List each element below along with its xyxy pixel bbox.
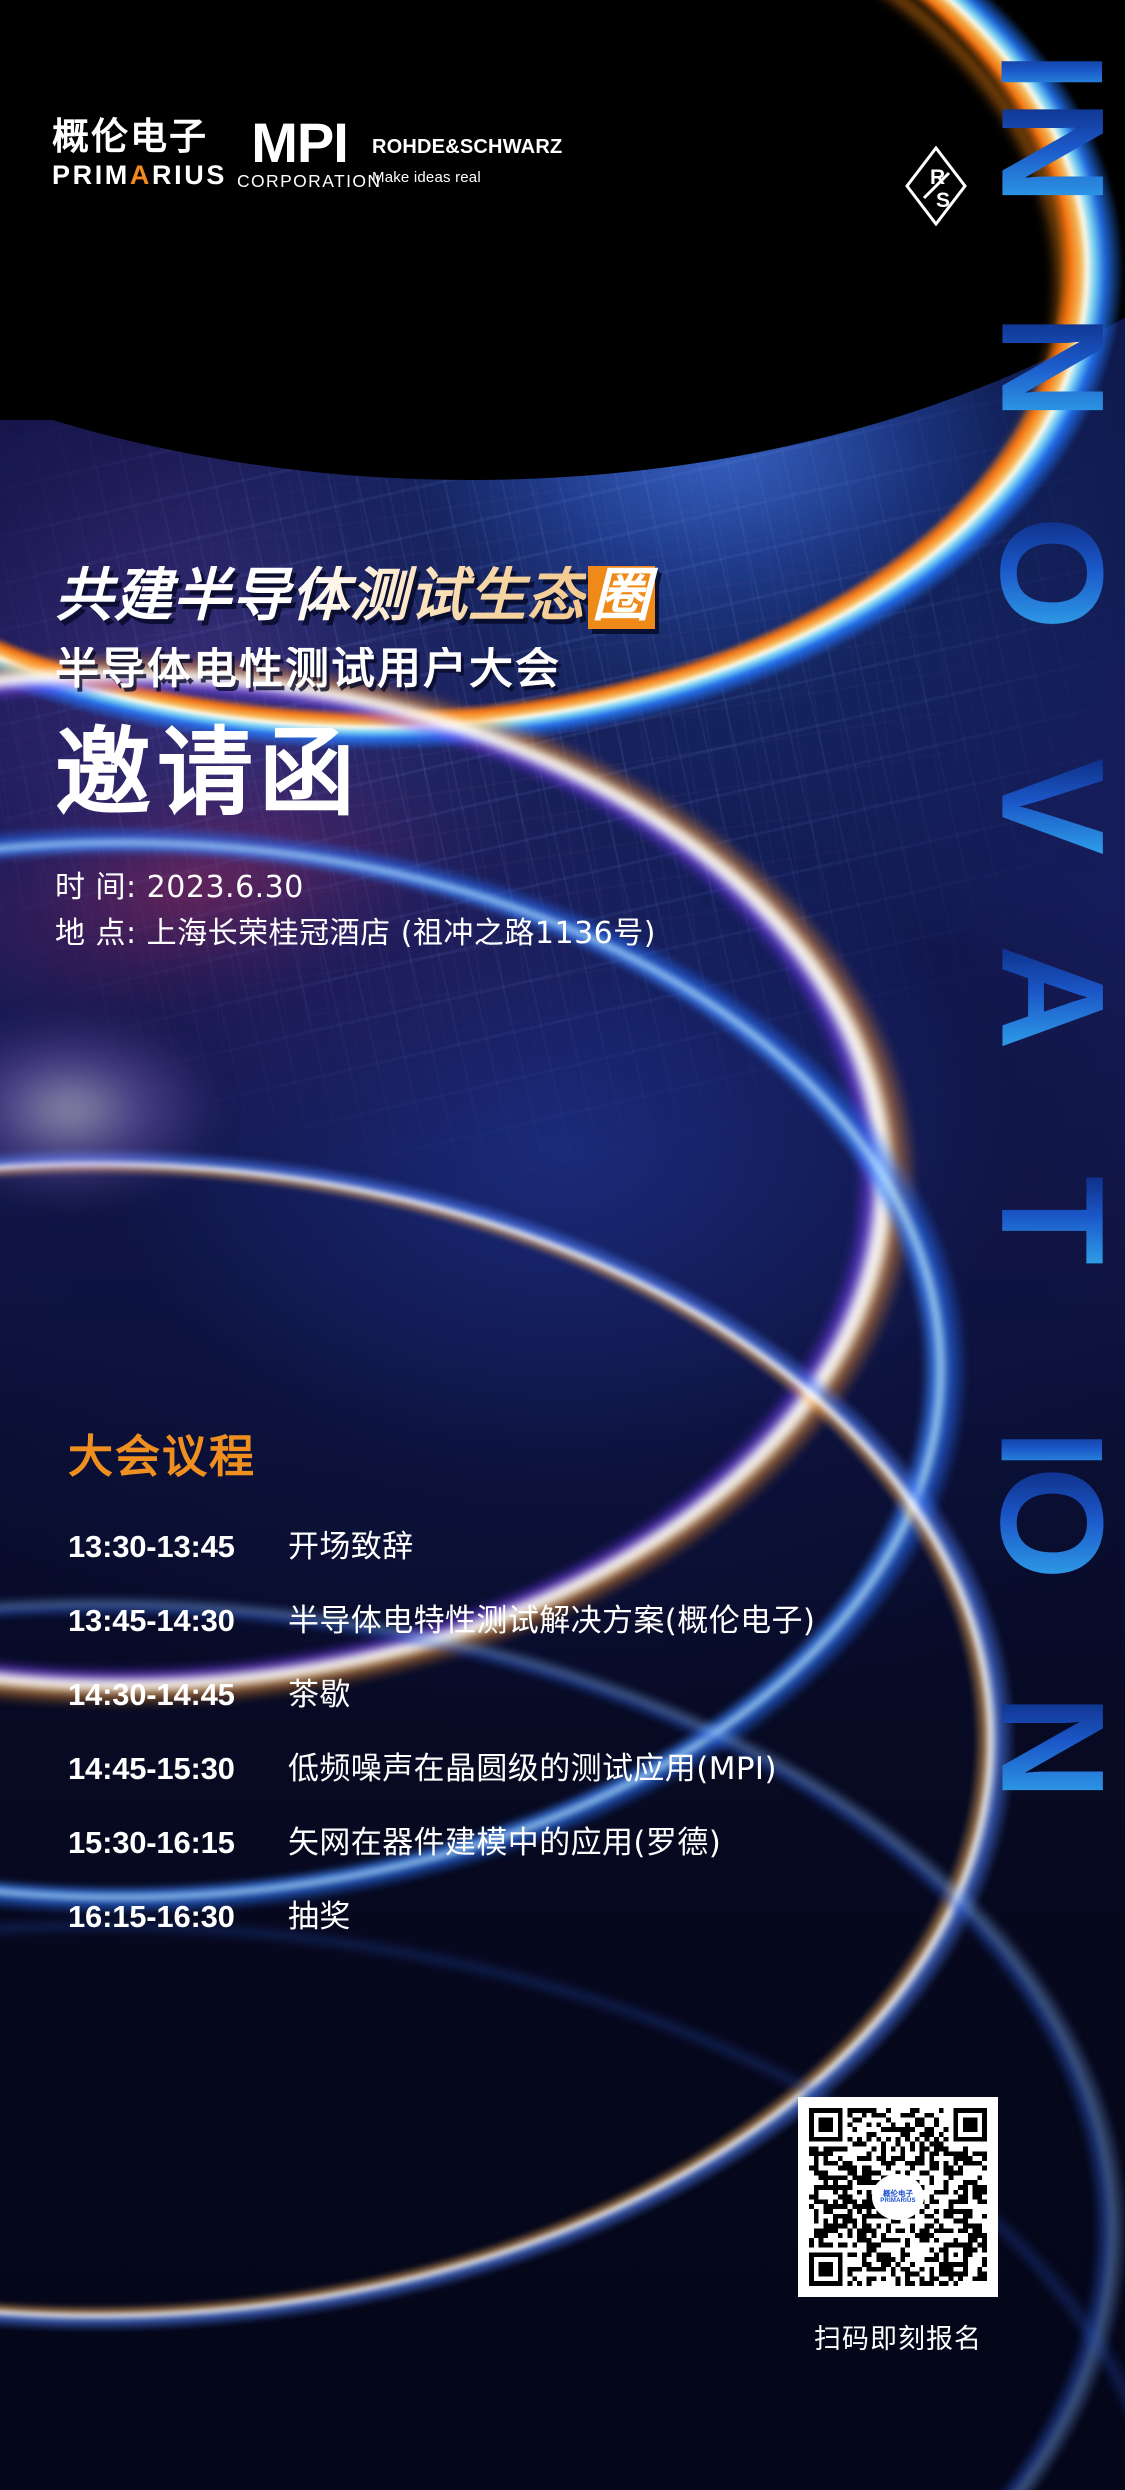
logo-rs-claim: Make ideas real [372,169,632,186]
agenda-time: 16:15-16:30 [68,1899,288,1935]
logo-rohde-schwarz: ROHDE&SCHWARZ Make ideas real R S [372,136,632,186]
agenda-text: 半导体电特性测试解决方案(概伦电子) [288,1595,815,1640]
agenda-row: 14:30-14:45 茶歇 [68,1669,1068,1714]
agenda-list: 13:30-13:45 开场致辞 13:45-14:30 半导体电特性测试解决方… [68,1521,1068,1936]
headline-sub: 半导体电性测试用户大会 [55,647,1055,691]
logo-primarius-en: PRIMARIUS [52,160,227,191]
agenda-time: 13:30-13:45 [68,1529,288,1565]
agenda-time: 14:45-15:30 [68,1751,288,1787]
logo-mpi-main: MPI [237,116,362,169]
agenda-block: 大会议程 13:30-13:45 开场致辞 13:45-14:30 半导体电特性… [68,1420,1068,1965]
agenda-time: 13:45-14:30 [68,1603,288,1639]
headline-invite: 邀请函 [55,725,1055,821]
light-glow-blob [0,980,280,1240]
logo-primarius-en-post: RIUS [152,160,227,190]
event-date: 时 间: 2023.6.30 [55,865,1055,911]
event-meta: 时 间: 2023.6.30 地 点: 上海长荣桂冠酒店 (祖冲之路1136号) [55,865,1055,956]
headline-main: 共建半导体测试生态 圈 [55,566,1055,629]
logo-primarius-cn: 概伦电子 [52,118,252,157]
agenda-row: 14:45-15:30 低频噪声在晶圆级的测试应用(MPI) [68,1743,1068,1788]
agenda-row: 16:15-16:30 抽奖 [68,1891,1068,1936]
qr-center-logo: 概伦电子 PRIMARIUS [872,2174,924,2220]
rs-diamond-icon: R S [905,146,967,226]
qr-code-image[interactable]: 概伦电子 PRIMARIUS [798,2097,998,2297]
logo-mpi: MPI CORPORATION [237,116,362,192]
qr-caption: 扫码即刻报名 [798,2317,998,2356]
qr-registration-block[interactable]: 概伦电子 PRIMARIUS 扫码即刻报名 [798,2097,998,2356]
headline-block: 共建半导体测试生态 圈 半导体电性测试用户大会 邀请函 时 间: 2023.6.… [55,566,1055,956]
logo-primarius-en-accent: A [130,160,152,190]
qr-center-cn: 概伦电子 [883,2190,913,2198]
agenda-text: 抽奖 [288,1891,351,1936]
event-location: 地 点: 上海长荣桂冠酒店 (祖冲之路1136号) [55,911,1055,957]
agenda-row: 13:30-13:45 开场致辞 [68,1521,1068,1566]
logo-primarius-en-pre: PRIM [52,160,130,190]
agenda-row: 13:45-14:30 半导体电特性测试解决方案(概伦电子) [68,1595,1068,1640]
qr-center-en: PRIMARIUS [880,2198,915,2204]
poster-canvas: I N N O V A T I O N 概伦电子 PRIMARIUS MPI C… [0,0,1125,2490]
agenda-text: 矢网在器件建模中的应用(罗德) [288,1817,721,1862]
agenda-row: 15:30-16:15 矢网在器件建模中的应用(罗德) [68,1817,1068,1862]
logo-primarius: 概伦电子 PRIMARIUS [52,118,252,191]
agenda-text: 开场致辞 [288,1521,414,1566]
agenda-time: 15:30-16:15 [68,1825,288,1861]
svg-text:S: S [936,189,950,212]
agenda-time: 14:30-14:45 [68,1677,288,1713]
logo-rs-name: ROHDE&SCHWARZ [372,136,632,159]
agenda-text: 低频噪声在晶圆级的测试应用(MPI) [288,1743,777,1788]
logo-mpi-sub: CORPORATION [237,171,362,192]
agenda-text: 茶歇 [288,1669,351,1714]
agenda-title: 大会议程 [68,1420,1068,1485]
sponsor-logo-row: 概伦电子 PRIMARIUS MPI CORPORATION ROHDE&SCH… [0,118,1125,218]
headline-main-plain: 共建半导体测试生态 [55,566,586,624]
headline-main-boxed: 圈 [588,566,655,629]
